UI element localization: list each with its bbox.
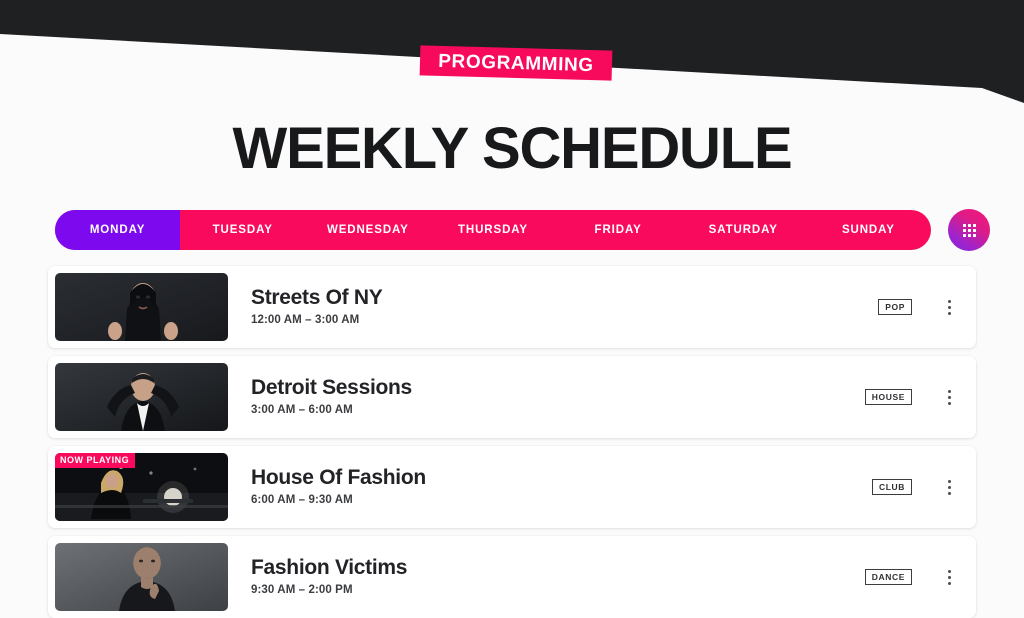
now-playing-badge: NOW PLAYING <box>55 453 135 468</box>
show-thumbnail <box>55 543 228 611</box>
kebab-menu-icon[interactable] <box>922 300 976 315</box>
programming-badge: PROGRAMMING <box>420 45 613 80</box>
genre-tag: DANCE <box>865 569 912 585</box>
genre-tag: HOUSE <box>865 389 912 405</box>
show-info: Streets Of NY 12:00 AM – 3:00 AM <box>228 287 782 327</box>
page-title: WEEKLY SCHEDULE <box>0 119 1024 180</box>
table-row[interactable]: Streets Of NY 12:00 AM – 3:00 AM POP <box>48 266 976 348</box>
kebab-menu-icon[interactable] <box>922 570 976 585</box>
show-time: 6:00 AM – 9:30 AM <box>251 495 782 507</box>
tab-saturday[interactable]: SATURDAY <box>681 210 806 250</box>
table-row[interactable]: Detroit Sessions 3:00 AM – 6:00 AM HOUSE <box>48 356 976 438</box>
table-row[interactable]: Fashion Victims 9:30 AM – 2:00 PM DANCE <box>48 536 976 618</box>
genre-tag-zone: HOUSE <box>782 389 922 405</box>
tab-wednesday-label: WEDNESDAY <box>327 224 409 236</box>
show-thumbnail <box>55 273 228 341</box>
grid-view-button[interactable] <box>948 209 990 251</box>
show-thumbnail <box>55 363 228 431</box>
tab-sunday[interactable]: SUNDAY <box>806 210 931 250</box>
table-row[interactable]: NOW PLAYING House Of Fashion 6:00 AM – 9… <box>48 446 976 528</box>
tab-thursday-label: THURSDAY <box>458 224 528 236</box>
tab-wednesday[interactable]: WEDNESDAY <box>305 210 430 250</box>
day-tabs: MONDAY TUESDAY WEDNESDAY THURSDAY FRIDAY… <box>55 210 931 250</box>
tab-monday[interactable]: MONDAY <box>55 210 180 250</box>
genre-tag-zone: DANCE <box>782 569 922 585</box>
show-title: Fashion Victims <box>251 557 782 578</box>
tab-friday[interactable]: FRIDAY <box>556 210 681 250</box>
tab-monday-label: MONDAY <box>90 224 145 236</box>
grid-dots-icon <box>963 224 976 237</box>
show-title: Streets Of NY <box>251 287 782 308</box>
day-tab-bar: MONDAY TUESDAY WEDNESDAY THURSDAY FRIDAY… <box>55 210 990 250</box>
show-info: Fashion Victims 9:30 AM – 2:00 PM <box>228 557 782 597</box>
show-time: 3:00 AM – 6:00 AM <box>251 405 782 417</box>
tab-friday-label: FRIDAY <box>595 224 642 236</box>
tab-tuesday[interactable]: TUESDAY <box>180 210 305 250</box>
show-title: Detroit Sessions <box>251 377 782 398</box>
programming-badge-label: PROGRAMMING <box>438 51 594 74</box>
thumbnail-image-fashion-victims <box>55 543 228 611</box>
genre-tag: CLUB <box>872 479 912 495</box>
genre-tag-zone: POP <box>782 299 922 315</box>
thumbnail-image-detroit-sessions <box>55 363 228 431</box>
genre-tag: POP <box>878 299 912 315</box>
tab-sunday-label: SUNDAY <box>842 224 895 236</box>
show-time: 12:00 AM – 3:00 AM <box>251 315 782 327</box>
tab-saturday-label: SATURDAY <box>709 224 778 236</box>
tab-thursday[interactable]: THURSDAY <box>430 210 555 250</box>
thumbnail-image-streets-of-ny <box>55 273 228 341</box>
kebab-menu-icon[interactable] <box>922 480 976 495</box>
genre-tag-zone: CLUB <box>782 479 922 495</box>
tab-tuesday-label: TUESDAY <box>213 224 273 236</box>
show-title: House Of Fashion <box>251 467 782 488</box>
show-info: Detroit Sessions 3:00 AM – 6:00 AM <box>228 377 782 417</box>
show-thumbnail: NOW PLAYING <box>55 453 228 521</box>
show-time: 9:30 AM – 2:00 PM <box>251 585 782 597</box>
show-info: House Of Fashion 6:00 AM – 9:30 AM <box>228 467 782 507</box>
kebab-menu-icon[interactable] <box>922 390 976 405</box>
schedule-list: Streets Of NY 12:00 AM – 3:00 AM POP <box>48 266 976 618</box>
